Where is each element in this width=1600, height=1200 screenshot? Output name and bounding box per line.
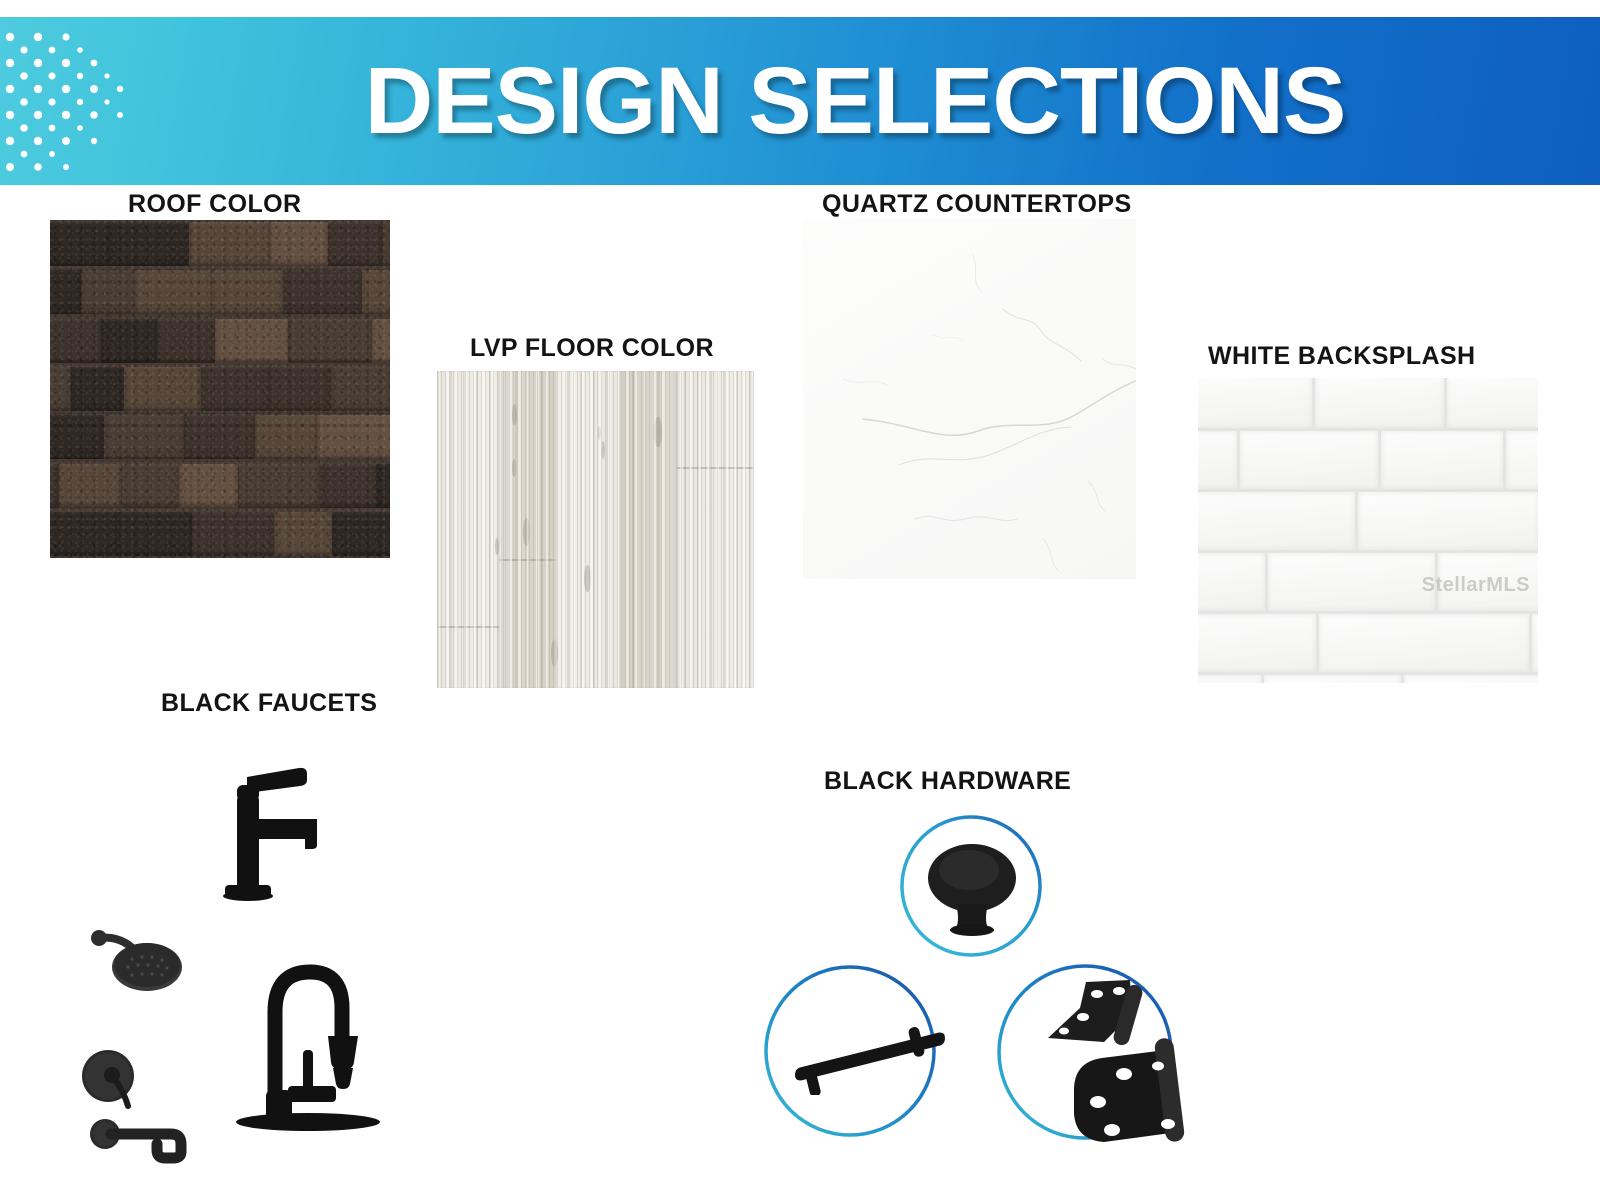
subway-tile (1264, 675, 1401, 683)
hinge-front (1074, 1037, 1185, 1143)
lvp-texture-grain (437, 371, 754, 688)
subway-tile (1404, 675, 1538, 683)
swatch-lvp-floor-color (437, 371, 754, 688)
page-title: DESIGN SELECTIONS (0, 17, 1600, 185)
product-pull-down-kitchen-faucet (230, 950, 385, 1135)
swatch-white-backsplash: StellarMLS (1198, 378, 1538, 683)
product-shower-valve-trim (78, 1048, 154, 1118)
subway-tile (1198, 614, 1316, 672)
subway-tile (1381, 431, 1503, 489)
section-label-roof-color: ROOF COLOR (128, 190, 301, 219)
product-cabinet-knob (912, 836, 1032, 946)
subway-tile (1268, 553, 1435, 611)
section-label-lvp-floor-color: LVP FLOOR COLOR (470, 334, 714, 363)
product-door-hinges (1020, 972, 1210, 1147)
product-bathroom-sink-faucet (195, 755, 335, 915)
hinge-back (1048, 980, 1144, 1047)
product-rain-shower-head (88, 925, 193, 1015)
section-label-black-hardware: BLACK HARDWARE (824, 767, 1071, 796)
swatch-quartz-countertops (803, 219, 1136, 579)
subway-tile (1198, 378, 1312, 428)
section-label-black-faucets: BLACK FAUCETS (161, 689, 377, 718)
product-bar-pull-handle (785, 1005, 945, 1095)
subway-tile (1358, 492, 1538, 550)
subway-tile (1447, 378, 1538, 428)
subway-tile (1240, 431, 1378, 489)
subway-tile (1198, 431, 1237, 489)
subway-tile (1506, 431, 1538, 489)
header-banner: DESIGN SELECTIONS (0, 17, 1600, 185)
product-tub-spout (85, 1118, 205, 1170)
swatch-roof-color (50, 220, 390, 558)
subway-tile (1532, 614, 1538, 672)
roof-texture-grain (50, 220, 390, 558)
subway-tile (1319, 614, 1529, 672)
quartz-veining (803, 219, 1136, 579)
subway-tile (1198, 492, 1355, 550)
section-label-quartz-countertops: QUARTZ COUNTERTOPS (822, 190, 1132, 219)
stellar-mls-watermark: StellarMLS (1422, 574, 1530, 597)
subway-tile (1315, 378, 1444, 428)
subway-tile (1198, 553, 1265, 611)
subway-tile (1198, 675, 1261, 683)
section-label-white-backsplash: WHITE BACKSPLASH (1208, 342, 1476, 371)
